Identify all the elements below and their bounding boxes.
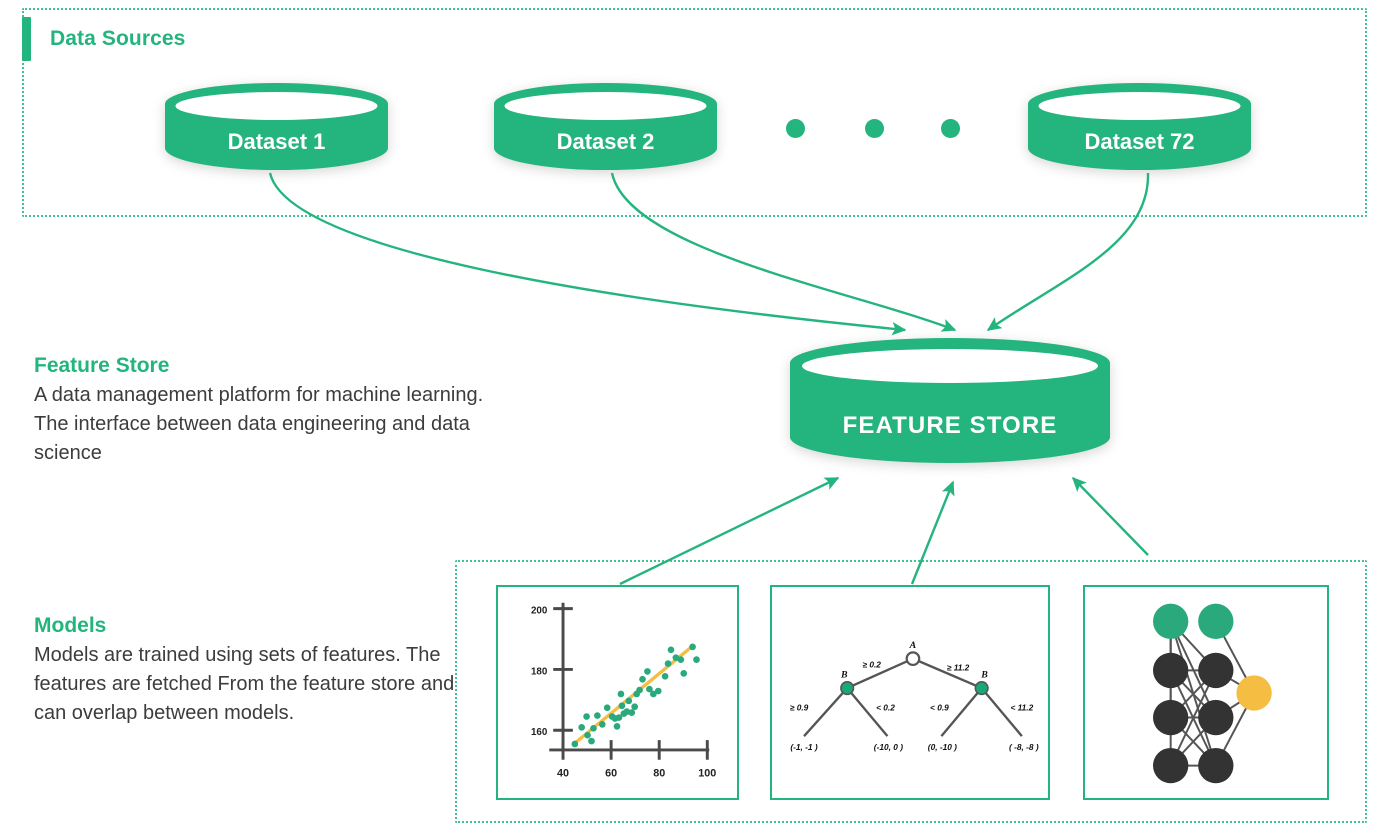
svg-text:200: 200 bbox=[531, 605, 548, 616]
tree-leaf-4: ( -8, -8 ) bbox=[1009, 742, 1039, 752]
data-sources-title: Data Sources bbox=[50, 27, 185, 51]
network-node-hidden-6 bbox=[1198, 748, 1233, 783]
dataset-2-cylinder[interactable]: Dataset 2 bbox=[494, 82, 717, 170]
model-panel-neural-network[interactable] bbox=[1083, 585, 1329, 800]
feature-store-desc-title: Feature Store bbox=[34, 352, 484, 379]
tree-edge-label-right-left: < 0.9 bbox=[930, 703, 949, 713]
tree-node-right-label: B bbox=[980, 669, 988, 680]
decision-tree-chart: A B B ≥ 0.2 ≥ 11.2 ≥ 0.9 < 0.2 < 0.9 < 1… bbox=[772, 587, 1048, 798]
tree-node-left bbox=[841, 682, 854, 695]
network-node-input-1 bbox=[1153, 604, 1188, 639]
network-node-hidden-1 bbox=[1153, 653, 1188, 688]
tree-leaf-1: (-1, -1 ) bbox=[790, 742, 818, 752]
arrow-network-model-to-store bbox=[1073, 478, 1148, 555]
tree-node-right bbox=[975, 682, 988, 695]
tree-edge-label-root-right: ≥ 11.2 bbox=[947, 662, 970, 672]
tree-node-root bbox=[907, 652, 920, 665]
tree-leaf-2: (-10, 0 ) bbox=[874, 742, 903, 752]
tree-edge-label-root-left: ≥ 0.2 bbox=[862, 659, 881, 669]
tree-edge-label-right-right: < 11.2 bbox=[1010, 703, 1033, 713]
cylinder-shape bbox=[1028, 82, 1251, 170]
svg-text:60: 60 bbox=[605, 767, 617, 779]
feature-store-desc-body: A data management platform for machine l… bbox=[34, 381, 484, 468]
scatter-chart: 200 180 160 40 60 80 100 bbox=[498, 587, 737, 798]
dataset-1-cylinder[interactable]: Dataset 1 bbox=[165, 82, 388, 170]
tree-edge-label-left-right: < 0.2 bbox=[876, 703, 895, 713]
neural-network-chart bbox=[1085, 587, 1327, 798]
cylinder-shape bbox=[494, 82, 717, 170]
network-node-output bbox=[1236, 675, 1271, 710]
models-description: Models Models are trained using sets of … bbox=[34, 612, 484, 728]
network-node-hidden-5 bbox=[1153, 748, 1188, 783]
svg-text:180: 180 bbox=[531, 666, 548, 677]
cylinder-shape bbox=[165, 82, 388, 170]
data-sources-accent-bar bbox=[22, 17, 31, 61]
svg-text:100: 100 bbox=[698, 767, 716, 779]
model-panel-scatter[interactable]: 200 180 160 40 60 80 100 bbox=[496, 585, 739, 800]
svg-text:40: 40 bbox=[557, 767, 569, 779]
diagram-canvas: Data Sources Dataset 1 Dataset 2 Dataset… bbox=[0, 0, 1382, 830]
tree-node-root-label: A bbox=[909, 640, 917, 651]
tree-edge-label-left-left: ≥ 0.9 bbox=[790, 703, 809, 713]
cylinder-shape bbox=[790, 337, 1110, 469]
ellipsis-dot-1 bbox=[786, 119, 805, 138]
dataset-72-cylinder[interactable]: Dataset 72 bbox=[1028, 82, 1251, 170]
tree-node-left-label: B bbox=[840, 669, 848, 680]
models-desc-title: Models bbox=[34, 612, 484, 639]
tree-leaf-3: (0, -10 ) bbox=[928, 742, 957, 752]
svg-text:80: 80 bbox=[653, 767, 665, 779]
svg-text:160: 160 bbox=[531, 727, 548, 738]
models-desc-body: Models are trained using sets of feature… bbox=[34, 641, 484, 728]
network-node-input-2 bbox=[1198, 604, 1233, 639]
feature-store-cylinder[interactable]: FEATURE STORE bbox=[790, 337, 1110, 469]
network-node-hidden-4 bbox=[1198, 700, 1233, 735]
network-node-hidden-3 bbox=[1153, 700, 1188, 735]
model-panel-decision-tree[interactable]: A B B ≥ 0.2 ≥ 11.2 ≥ 0.9 < 0.2 < 0.9 < 1… bbox=[770, 585, 1050, 800]
ellipsis-dot-2 bbox=[865, 119, 884, 138]
ellipsis-dot-3 bbox=[941, 119, 960, 138]
feature-store-description: Feature Store A data management platform… bbox=[34, 352, 484, 468]
network-node-hidden-2 bbox=[1198, 653, 1233, 688]
